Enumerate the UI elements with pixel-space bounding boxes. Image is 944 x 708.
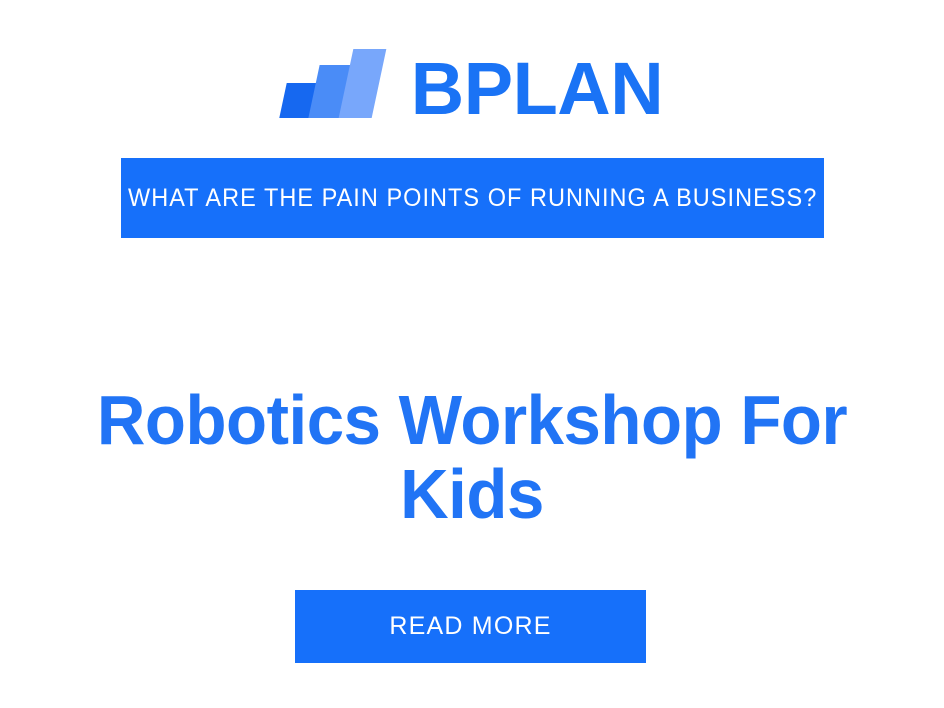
- page-title: Robotics Workshop For Kids: [88, 383, 856, 531]
- promo-card: BPLAN WHAT ARE THE PAIN POINTS OF RUNNIN…: [0, 0, 944, 708]
- bar-chart-ascending-icon: [281, 38, 387, 118]
- read-more-button[interactable]: READ MORE: [295, 590, 646, 663]
- question-banner: WHAT ARE THE PAIN POINTS OF RUNNING A BU…: [121, 158, 824, 238]
- read-more-button-label: READ MORE: [389, 612, 551, 641]
- brand-logo[interactable]: BPLAN: [0, 28, 944, 120]
- logo-bar-large: [338, 49, 386, 118]
- question-banner-text: WHAT ARE THE PAIN POINTS OF RUNNING A BU…: [128, 184, 817, 213]
- brand-wordmark: BPLAN: [411, 58, 663, 120]
